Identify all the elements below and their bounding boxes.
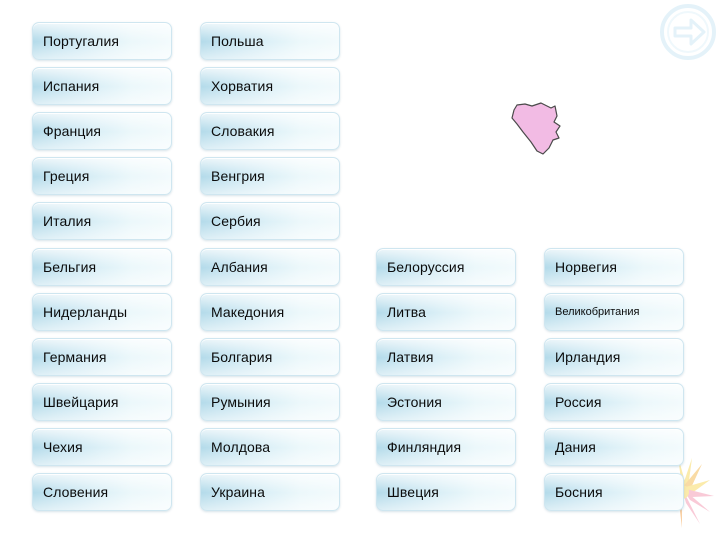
country-button[interactable]: Белоруссия	[376, 248, 516, 286]
country-button[interactable]: Германия	[32, 338, 172, 376]
country-button-label: Болгария	[211, 349, 272, 365]
country-button-label: Словения	[43, 484, 108, 500]
country-button-label: Швейцария	[43, 394, 119, 410]
country-button[interactable]: Великобритания	[544, 293, 684, 331]
country-button[interactable]: Дания	[544, 428, 684, 466]
country-button-label: Румыния	[211, 394, 271, 410]
country-button[interactable]: Украина	[200, 473, 340, 511]
country-button-label: Греция	[43, 168, 89, 184]
country-button-label: Сербия	[211, 213, 261, 229]
country-button-grid: ПортугалияИспанияФранцияГрецияИталияБель…	[0, 0, 720, 540]
country-button[interactable]: Португалия	[32, 22, 172, 60]
country-button-label: Молдова	[211, 439, 270, 455]
country-button[interactable]: Россия	[544, 383, 684, 421]
country-button[interactable]: Италия	[32, 202, 172, 240]
country-button[interactable]: Бельгия	[32, 248, 172, 286]
slide-canvas: ПортугалияИспанияФранцияГрецияИталияБель…	[0, 0, 720, 540]
country-button[interactable]: Словакия	[200, 112, 340, 150]
country-button-label: Испания	[43, 78, 99, 94]
country-button[interactable]: Молдова	[200, 428, 340, 466]
country-button-label: Дания	[555, 439, 596, 455]
country-button-label: Германия	[43, 349, 107, 365]
country-button-label: Финляндия	[387, 439, 461, 455]
country-button[interactable]: Македония	[200, 293, 340, 331]
country-button-label: Швеция	[387, 484, 439, 500]
country-button-label: Белоруссия	[387, 259, 465, 275]
country-button[interactable]: Босния	[544, 473, 684, 511]
country-button[interactable]: Румыния	[200, 383, 340, 421]
country-button[interactable]: Болгария	[200, 338, 340, 376]
country-button[interactable]: Нидерланды	[32, 293, 172, 331]
country-button-label: Хорватия	[211, 78, 273, 94]
country-button[interactable]: Чехия	[32, 428, 172, 466]
country-button-label: Литва	[387, 304, 426, 320]
country-button[interactable]: Латвия	[376, 338, 516, 376]
country-button-label: Эстония	[387, 394, 442, 410]
country-button-label: Франция	[43, 123, 101, 139]
country-button[interactable]: Словения	[32, 473, 172, 511]
country-button[interactable]: Испания	[32, 67, 172, 105]
country-button[interactable]: Финляндия	[376, 428, 516, 466]
country-button-label: Украина	[211, 484, 265, 500]
country-button-label: Польша	[211, 33, 264, 49]
country-button-label: Босния	[555, 484, 603, 500]
country-button[interactable]: Эстония	[376, 383, 516, 421]
country-button[interactable]: Литва	[376, 293, 516, 331]
country-button[interactable]: Норвегия	[544, 248, 684, 286]
country-button[interactable]: Польша	[200, 22, 340, 60]
country-button-label: Ирландия	[555, 349, 620, 365]
country-button-label: Словакия	[211, 123, 275, 139]
country-button[interactable]: Ирландия	[544, 338, 684, 376]
country-button-label: Македония	[211, 304, 284, 320]
country-button-label: Нидерланды	[43, 304, 127, 320]
country-button-label: Норвегия	[555, 259, 617, 275]
country-button-label: Чехия	[43, 439, 83, 455]
country-button-label: Великобритания	[555, 304, 639, 320]
country-button-label: Латвия	[387, 349, 434, 365]
country-button-label: Албания	[211, 259, 268, 275]
country-button[interactable]: Швейцария	[32, 383, 172, 421]
country-button-label: Бельгия	[43, 259, 96, 275]
country-button[interactable]: Швеция	[376, 473, 516, 511]
country-button-label: Венгрия	[211, 168, 265, 184]
country-button[interactable]: Сербия	[200, 202, 340, 240]
country-button[interactable]: Албания	[200, 248, 340, 286]
country-button[interactable]: Франция	[32, 112, 172, 150]
country-button-label: Португалия	[43, 33, 119, 49]
country-button[interactable]: Греция	[32, 157, 172, 195]
country-button-label: Россия	[555, 394, 602, 410]
country-button[interactable]: Хорватия	[200, 67, 340, 105]
country-button[interactable]: Венгрия	[200, 157, 340, 195]
country-button-label: Италия	[43, 213, 91, 229]
